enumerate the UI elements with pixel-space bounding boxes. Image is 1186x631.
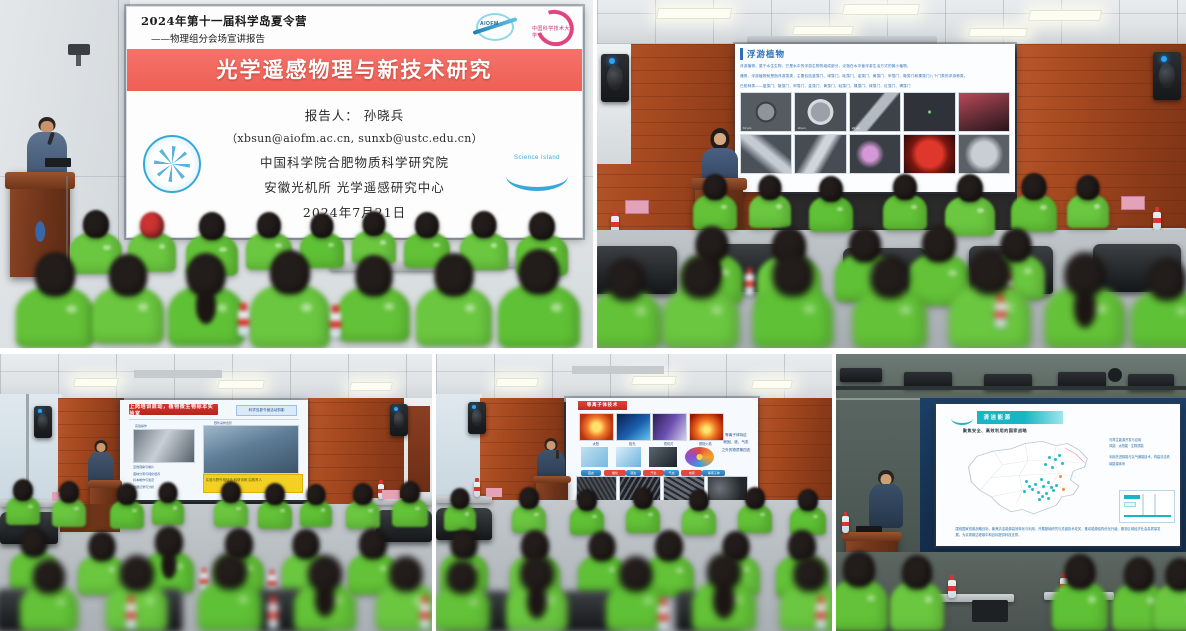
micrograph-caption: 10 μm	[797, 126, 805, 130]
china-map	[960, 435, 1102, 520]
slide5-footer: 围绕国家双碳战略目标，聚焦清洁能源高效转化与利用，开展基础研究与关键技术攻关，推…	[956, 526, 1161, 539]
slide1-speaker: 报告人： 孙晓兵	[127, 105, 582, 124]
slide2-micrograph-grid: 10 μm 10 μm 20 μm	[740, 92, 1010, 174]
laptop-icon	[45, 158, 71, 167]
photo-collage: 2024年第十一届科学岛夏令营 ——物理组分会场宣讲报告 AIOFM 中国科学技…	[0, 0, 1186, 631]
water-bottle-icon	[268, 603, 278, 629]
slide5-side-text: 可再生能源开发与应用 风能 · 太阳能 · 生物质能 利用先进核能与氢气储能技术…	[1109, 437, 1172, 468]
slide4-state-solid	[581, 447, 608, 467]
water-bottle-icon	[330, 312, 341, 338]
water-bottle-icon	[995, 302, 1006, 328]
slide4-chip: 汽化	[643, 470, 664, 477]
slide4-state-plasma	[685, 447, 714, 467]
panel-top-left: 2024年第十一届科学岛夏令营 ——物理组分会场宣讲报告 AIOFM 中国科学技…	[0, 0, 593, 348]
projector-icon	[840, 368, 882, 382]
loudspeaker-icon	[390, 404, 408, 436]
slide4-image-label: 霓虹灯	[652, 441, 685, 446]
panel-bottom-right: 清洁能源 聚焦安全、高效利用的国家战略	[836, 354, 1186, 631]
panel-bottom-left: 上岗培训启动，植物微生物标本实验室 科学岛夏令营活动剪影 实验操作 野外采样合影…	[0, 354, 432, 631]
micrograph-cell	[740, 134, 792, 174]
slide3-bullet: 显微观察与制片	[133, 464, 195, 471]
slide3-blue-box: 科学岛夏令营活动剪影	[236, 405, 296, 416]
slide2-para-1: 浮游植物，属于水生生物，它是水中的浮游生物的组成部分，泛指在水中营浮游生活方式的…	[740, 63, 1010, 70]
slide1-title-band: 光学遥感物理与新技术研究	[127, 49, 582, 91]
slide4-note: 等离子体特征 继固、液、气态 之外的物质第四态	[722, 432, 751, 455]
slide1-title: 光学遥感物理与新技术研究	[217, 57, 493, 82]
loudspeaker-icon	[34, 406, 52, 438]
slide4-image-sun	[579, 413, 614, 442]
slide4-state-liquid	[616, 447, 641, 467]
water-bottle-icon	[842, 516, 849, 533]
presenter-5	[866, 470, 906, 528]
slide5-ribbon: 清洁能源	[977, 411, 1062, 424]
energy-swoosh-icon	[951, 412, 973, 425]
slide5-side-line: 风能 · 太阳能 · 生物质能	[1109, 443, 1172, 450]
loudspeaker-icon	[1153, 52, 1181, 100]
ceiling-camera-icon	[1108, 368, 1122, 382]
slide4-chip: 熔化	[604, 470, 625, 477]
slide4-image-label: 极光	[616, 441, 649, 446]
micrograph-cell	[903, 134, 955, 174]
water-bottle-icon	[126, 603, 136, 629]
panel-bottom-middle: 等离子体技术 太阳 极光 霓虹灯 燃烧火焰 熔化 汽化 电离	[436, 354, 832, 631]
slide4-image-label: 太阳	[579, 441, 612, 446]
loudspeaker-icon	[601, 54, 629, 102]
projection-screen-1: 2024年第十一届科学岛夏令营 ——物理组分会场宣讲报告 AIOFM 中国科学技…	[126, 6, 583, 238]
science-island-emblem: Science Island	[506, 153, 568, 197]
slide5-subtitle: 聚焦安全、高效利用的国家战略	[963, 428, 1027, 434]
slide4-state-gas	[649, 447, 678, 467]
projection-screen-2: 浮游植物 浮游植物，属于水生生物，它是水中的浮游生物的组成部分，泛指在水中营浮游…	[735, 44, 1015, 192]
slide4-image-neon	[652, 413, 687, 442]
slide3-photo-field	[203, 425, 299, 474]
micrograph-caption: 10 μm	[743, 126, 751, 130]
slide4-state-bar: 等离子体	[702, 470, 725, 477]
slide4-state-bar: 气态	[664, 470, 679, 477]
slide3-bullet: 菌种分离与纯化培养	[133, 471, 195, 478]
water-bottle-icon	[816, 603, 826, 629]
slide5-inset-chart	[1119, 490, 1175, 523]
cas-atom-emblem	[143, 135, 201, 193]
presenter-1	[22, 117, 72, 179]
slide4-title: 等离子体技术	[578, 401, 628, 410]
aiofm-swoosh-logo: AIOFM	[472, 10, 520, 40]
slide2-para-2: 通常，浮游植物就是指浮游藻类，主要包括蓝藻门、绿藻门、硅藻门、金藻门、黄藻门、甲…	[740, 73, 1010, 80]
micrograph-cell: 10 μm	[740, 92, 792, 132]
water-bottle-icon	[658, 605, 668, 631]
water-bottle-icon	[238, 310, 249, 336]
water-bottle-icon	[420, 603, 430, 629]
micrograph-cell	[794, 134, 846, 174]
wall-camera-icon	[68, 44, 90, 55]
micrograph-cell	[849, 134, 901, 174]
slide2-para-3: 已知种类——蓝藻门、隐藻门、甲藻门、金藻门、黄藻门、硅藻门、裸藻门、绿藻门、红藻…	[740, 83, 1010, 90]
slide3-red-banner: 上岗培训启动，植物微生物标本实验室	[129, 404, 217, 415]
slide4-state-bar: 液态	[626, 470, 641, 477]
micrograph-cell	[958, 92, 1010, 132]
micrograph-caption: 20 μm	[852, 126, 860, 130]
loudspeaker-icon	[468, 402, 486, 434]
slide5-side-line: 可再生能源开发与应用	[1109, 437, 1172, 444]
micrograph-cell	[958, 134, 1010, 174]
slide4-image-aurora	[616, 413, 651, 442]
micrograph-cell: 20 μm	[849, 92, 901, 132]
microphone-icon	[556, 450, 559, 459]
slide1-email: （xbsun@aiofm.ac.cn, sunxb@ustc.edu.cn）	[127, 130, 582, 146]
slide3-photo-lab	[133, 429, 195, 463]
panel-top-right: 浮游植物 浮游植物，属于水生生物，它是水中的浮游生物的组成部分，泛指在水中营浮游…	[597, 0, 1186, 348]
slide3-photo-caption-left: 实验操作	[135, 424, 147, 428]
projection-screen-5: 清洁能源 聚焦安全、高效利用的国家战略	[936, 404, 1180, 546]
micrograph-cell: 10 μm	[794, 92, 846, 132]
slide2-title: 浮游植物	[740, 48, 1010, 60]
slide4-chip: 电离	[681, 470, 702, 477]
slide4-image-flame	[689, 413, 724, 442]
slide5-side-line: 利用先进核能与氢气储能技术，构建清洁低碳能源体系	[1109, 454, 1172, 467]
slide4-image-label: 燃烧火焰	[689, 441, 722, 446]
micrograph-cell	[903, 92, 955, 132]
ustc-pink-logo: 中国科学技术大学	[530, 9, 574, 41]
slide4-state-bar: 固态	[581, 470, 600, 477]
